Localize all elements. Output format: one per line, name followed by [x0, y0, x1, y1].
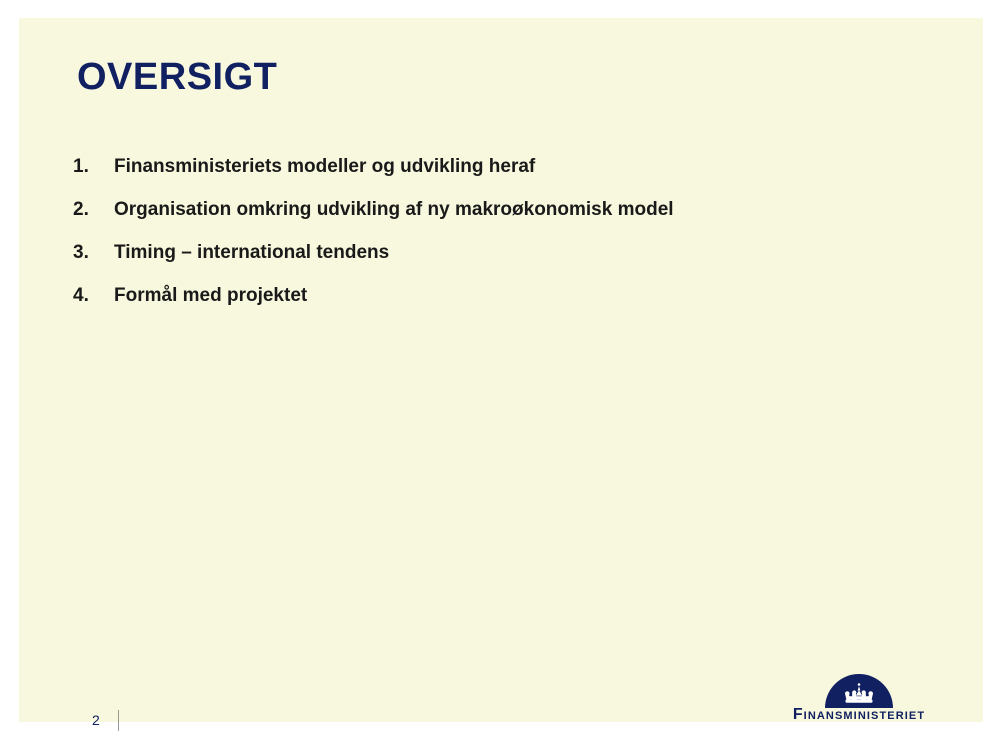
list-item-number: 3. [73, 242, 114, 264]
list-item-number: 2. [73, 199, 114, 221]
page-number-divider [118, 710, 119, 731]
slide-surface: OVERSIGT 1. Finansministeriets modeller … [19, 18, 983, 722]
brand-dome-wrap [763, 673, 955, 709]
brand-logo: Finansministeriet [763, 673, 955, 729]
list-item-number: 4. [73, 285, 114, 307]
list-item: 3. Timing – international tendens [73, 242, 943, 285]
crown-dome-icon [824, 673, 894, 709]
list-item: 1. Finansministeriets modeller og udvikl… [73, 156, 943, 199]
slide-canvas: OVERSIGT 1. Finansministeriets modeller … [0, 0, 1000, 750]
page-number-group: 2 [92, 708, 119, 732]
brand-wordmark: Finansministeriet [763, 706, 955, 724]
list-item: 4. Formål med projektet [73, 285, 943, 328]
page-title: OVERSIGT [77, 56, 277, 99]
list-item-label: Formål med projektet [114, 285, 307, 307]
list-item: 2. Organisation omkring udvikling af ny … [73, 199, 943, 242]
list-item-label: Timing – international tendens [114, 242, 389, 264]
page-number: 2 [92, 712, 118, 728]
list-item-number: 1. [73, 156, 114, 178]
list-item-label: Finansministeriets modeller og udvikling… [114, 156, 535, 178]
list-item-label: Organisation omkring udvikling af ny mak… [114, 199, 674, 221]
agenda-list: 1. Finansministeriets modeller og udvikl… [73, 156, 943, 328]
